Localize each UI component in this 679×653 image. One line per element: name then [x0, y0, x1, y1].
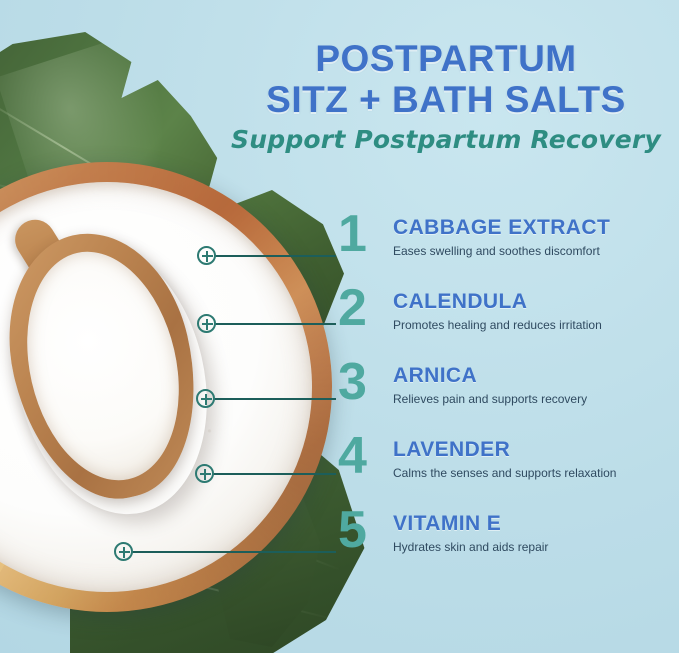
list-item-description: Calms the senses and supports relaxation — [393, 466, 616, 480]
ingredient-list: 1 CABBAGE EXTRACT Eases swelling and soo… — [338, 212, 668, 582]
list-item: 5 VITAMIN E Hydrates skin and aids repai… — [338, 508, 668, 582]
connector-line-3 — [213, 398, 336, 400]
list-item: 3 ARNICA Relieves pain and supports reco… — [338, 360, 668, 434]
connector-line-2 — [214, 323, 336, 325]
callout-marker-4 — [195, 464, 214, 483]
connector-line-5 — [131, 551, 336, 553]
list-item-title: CALENDULA — [393, 290, 602, 314]
list-item: 1 CABBAGE EXTRACT Eases swelling and soo… — [338, 212, 668, 286]
list-item-title: CABBAGE EXTRACT — [393, 216, 610, 240]
list-item-number: 3 — [338, 356, 367, 408]
list-item: 4 LAVENDER Calms the senses and supports… — [338, 434, 668, 508]
list-item-number: 4 — [338, 430, 367, 482]
header: POSTPARTUM SITZ + BATH SALTS Support Pos… — [226, 40, 666, 154]
connector-line-1 — [214, 255, 336, 257]
page-title-line1: POSTPARTUM — [226, 40, 666, 77]
callout-marker-3 — [196, 389, 215, 408]
list-item-number: 2 — [338, 282, 367, 334]
callout-marker-1 — [197, 246, 216, 265]
callout-marker-2 — [197, 314, 216, 333]
callout-marker-5 — [114, 542, 133, 561]
list-item-description: Relieves pain and supports recovery — [393, 392, 587, 406]
list-item-title: VITAMIN E — [393, 512, 548, 536]
list-item-title: ARNICA — [393, 364, 587, 388]
list-item: 2 CALENDULA Promotes healing and reduces… — [338, 286, 668, 360]
list-item-description: Eases swelling and soothes discomfort — [393, 244, 610, 258]
list-item-description: Promotes healing and reduces irritation — [393, 318, 602, 332]
page-tagline: Support Postpartum Recovery — [226, 125, 666, 154]
list-item-number: 5 — [338, 504, 367, 556]
product-infographic: POSTPARTUM SITZ + BATH SALTS Support Pos… — [0, 0, 679, 653]
list-item-description: Hydrates skin and aids repair — [393, 540, 548, 554]
list-item-title: LAVENDER — [393, 438, 616, 462]
connector-line-4 — [212, 473, 336, 475]
list-item-number: 1 — [338, 208, 367, 260]
page-title-line2: SITZ + BATH SALTS — [226, 81, 666, 118]
